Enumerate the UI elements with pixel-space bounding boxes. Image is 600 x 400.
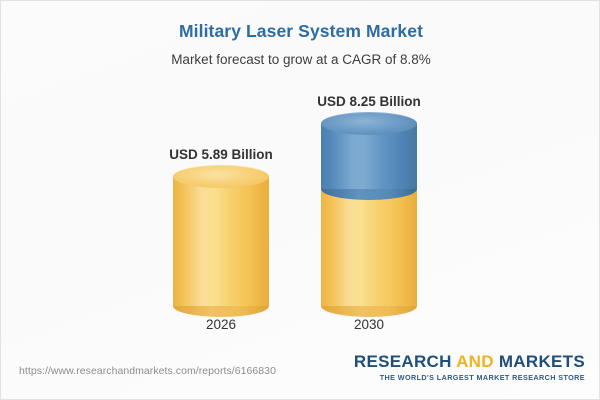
- brand-word-research: RESEARCH: [354, 352, 456, 371]
- footer: https://www.researchandmarkets.com/repor…: [1, 347, 600, 399]
- bar-segment-2030-growth[interactable]: [321, 123, 417, 189]
- brand-tagline: THE WORLD'S LARGEST MARKET RESEARCH STOR…: [354, 373, 585, 382]
- brand-wordmark: RESEARCH AND MARKETS: [354, 353, 585, 371]
- bar-segment-2030-base[interactable]: [321, 189, 417, 306]
- bar-value-label-2026: USD 5.89 Billion: [131, 147, 311, 162]
- brand-logo[interactable]: RESEARCH AND MARKETS THE WORLD'S LARGEST…: [354, 353, 585, 382]
- brand-word-and: AND: [456, 352, 494, 371]
- source-url-link[interactable]: https://www.researchandmarkets.com/repor…: [19, 365, 276, 377]
- plot-area: USD 5.89 Billion 2026 USD 8.25 Billion: [1, 1, 600, 349]
- cylinder-top-ellipse: [321, 112, 417, 135]
- chart-canvas: Military Laser System Market Market fore…: [0, 0, 600, 400]
- cylinder-body: [321, 189, 417, 306]
- cylinder-top-ellipse: [173, 165, 269, 188]
- cylinder-body: [173, 176, 269, 306]
- category-label-2030: 2030: [321, 317, 417, 332]
- bar-value-label-2030: USD 8.25 Billion: [279, 94, 459, 109]
- brand-word-markets: MARKETS: [494, 352, 585, 371]
- category-label-2026: 2026: [173, 317, 269, 332]
- bar-segment-2026-base[interactable]: [173, 176, 269, 306]
